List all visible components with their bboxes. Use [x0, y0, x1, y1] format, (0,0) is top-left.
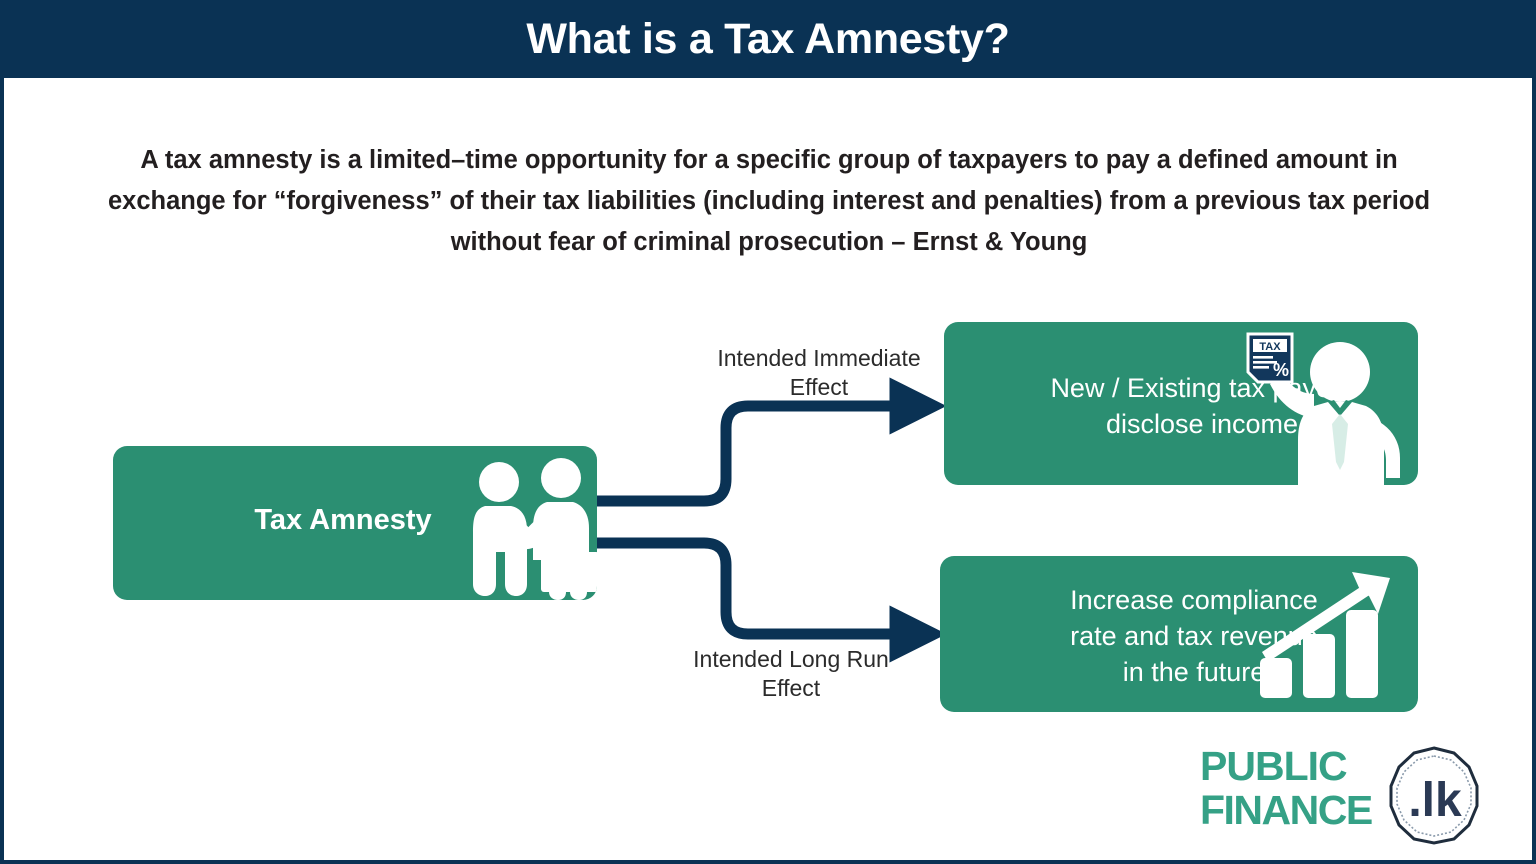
- infographic-canvas: What is a Tax Amnesty? A tax amnesty is …: [0, 0, 1536, 864]
- svg-text:%: %: [1273, 360, 1289, 380]
- handshake-icon: [465, 456, 597, 600]
- logo-wordmark: PUBLIC FINANCE: [1200, 744, 1392, 832]
- connector-label-long-run-effect: Intended Long Run Effect: [631, 645, 951, 703]
- connector-label-long-run-line-2: Effect: [631, 674, 951, 703]
- lk-stamp-icon: .lk: [1386, 746, 1482, 845]
- svg-text:TAX: TAX: [1259, 341, 1281, 353]
- page-title: What is a Tax Amnesty?: [526, 15, 1009, 64]
- tax-document-icon: TAX %: [1248, 334, 1292, 382]
- connector-label-immediate-line-2: Effect: [659, 373, 979, 402]
- growing-bar-chart-arrow-icon: [1256, 568, 1406, 706]
- businessman-holding-tax-document-icon: TAX %: [1244, 328, 1418, 485]
- node-disclose-income: New / Existing tax payers disclose incom…: [944, 322, 1418, 485]
- connector-label-long-run-line-1: Intended Long Run: [631, 645, 951, 674]
- definition-line-1: A tax amnesty is a limited–time opportun…: [140, 146, 1368, 174]
- header-bar: What is a Tax Amnesty?: [0, 0, 1536, 78]
- logo-word-public: PUBLIC: [1200, 744, 1392, 788]
- publicfinance-logo[interactable]: PUBLIC FINANCE .lk: [1200, 744, 1490, 848]
- logo-word-finance: FINANCE: [1200, 788, 1392, 832]
- connector-long-run-effect: [597, 543, 896, 634]
- definition-paragraph: A tax amnesty is a limited–time opportun…: [104, 140, 1434, 263]
- connector-label-immediate-effect: Intended Immediate Effect: [659, 344, 979, 402]
- connector-immediate-effect: [597, 406, 896, 501]
- definition-source: Ernst & Young: [913, 228, 1088, 256]
- node-tax-amnesty: Tax Amnesty: [113, 446, 597, 600]
- lk-stamp-text: .lk: [1408, 774, 1462, 827]
- node-increase-compliance: Increase compliance rate and tax revenue…: [940, 556, 1418, 712]
- connector-label-immediate-line-1: Intended Immediate: [659, 344, 979, 373]
